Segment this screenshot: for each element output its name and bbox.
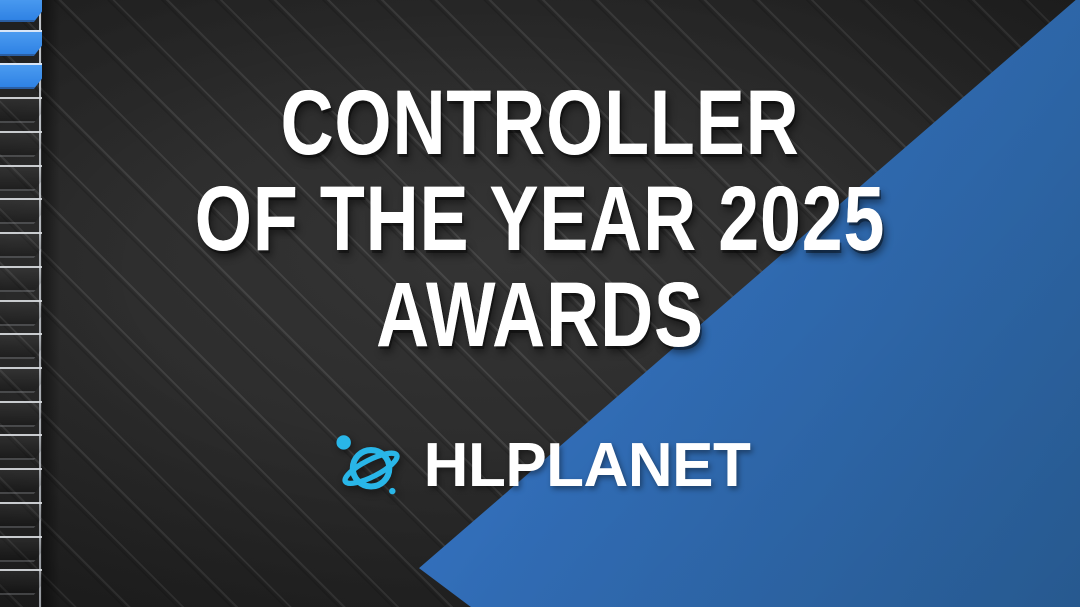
left-strip-slat	[0, 266, 42, 292]
left-strip-slat	[0, 502, 42, 528]
left-strip-slat	[0, 97, 42, 123]
left-strip-slat	[0, 536, 42, 562]
left-strip-slat	[0, 367, 42, 393]
left-strip-slat	[0, 131, 42, 157]
left-chevron-strip	[0, 0, 42, 607]
poster-canvas: CONTROLLER OF THE YEAR 2025 AWARDS HLPLA…	[0, 0, 1080, 607]
left-strip-slat	[0, 333, 42, 359]
left-strip-slat	[0, 0, 42, 22]
left-strip-slat	[0, 300, 42, 326]
brand-name: HLPLANET	[424, 435, 751, 497]
planet-ring-icon	[330, 428, 406, 504]
left-strip-shadow	[42, 0, 60, 607]
left-strip-slat	[0, 63, 42, 89]
left-strip-slat	[0, 401, 42, 427]
left-strip-slat	[0, 30, 42, 56]
left-strip-slat	[0, 569, 42, 595]
brand-lockup: HLPLANET	[0, 428, 1080, 504]
left-strip-slat	[0, 198, 42, 224]
left-strip-slat	[0, 232, 42, 258]
left-strip-slat	[0, 165, 42, 191]
